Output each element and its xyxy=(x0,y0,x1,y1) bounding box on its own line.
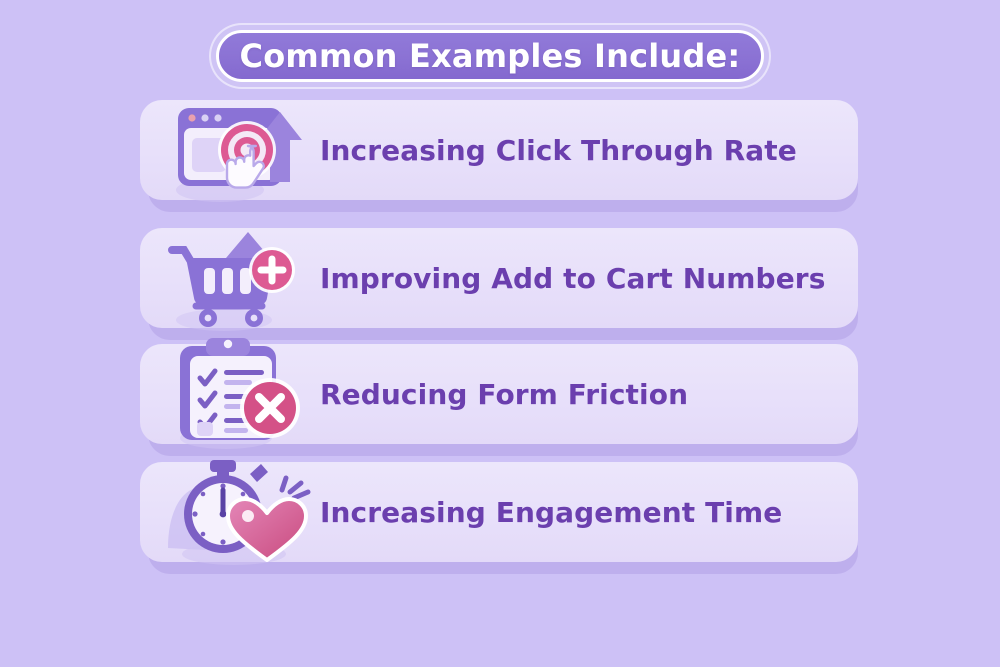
plus-badge xyxy=(249,247,295,293)
list-item[interactable]: Reducing Form Friction xyxy=(140,344,858,446)
engagement-time-icon xyxy=(162,448,322,576)
row-card[interactable]: Reducing Form Friction xyxy=(140,344,858,444)
x-badge xyxy=(240,378,300,438)
page-title: Common Examples Include: xyxy=(240,40,741,72)
title-pill: Common Examples Include: xyxy=(216,30,764,82)
title-banner: Common Examples Include: xyxy=(211,25,769,87)
list-item-label: Reducing Form Friction xyxy=(320,344,688,444)
form-friction-icon xyxy=(162,330,322,458)
list-item-label: Increasing Click Through Rate xyxy=(320,100,797,200)
list-item-label: Improving Add to Cart Numbers xyxy=(320,228,825,328)
list-item-label: Increasing Engagement Time xyxy=(320,462,782,562)
infographic-canvas: Common Examples Include: xyxy=(0,0,1000,667)
click-through-rate-icon xyxy=(162,86,322,214)
list-item[interactable]: Increasing Engagement Time xyxy=(140,462,858,564)
list-item[interactable]: Improving Add to Cart Numbers xyxy=(140,228,858,330)
row-card[interactable]: Improving Add to Cart Numbers xyxy=(140,228,858,328)
row-card[interactable]: Increasing Click Through Rate xyxy=(140,100,858,200)
add-to-cart-icon xyxy=(162,214,322,342)
list-item[interactable]: Increasing Click Through Rate xyxy=(140,100,858,202)
row-card[interactable]: Increasing Engagement Time xyxy=(140,462,858,562)
motion-lines xyxy=(282,478,308,498)
